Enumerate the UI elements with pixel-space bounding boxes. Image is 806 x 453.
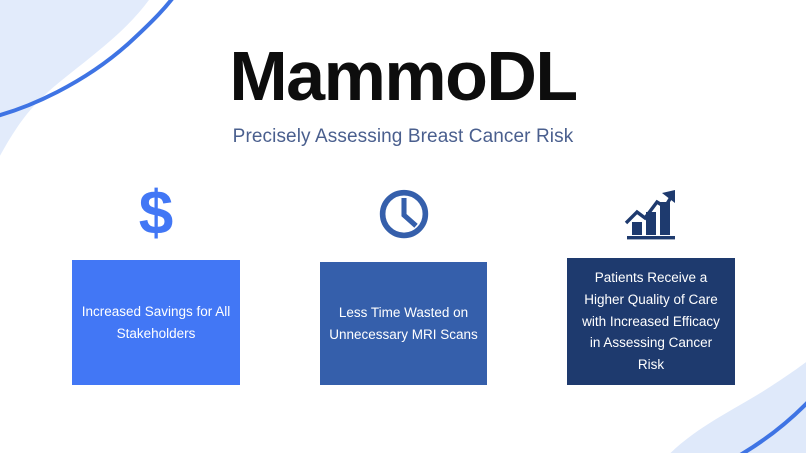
dollar-sign-icon: $	[139, 183, 173, 245]
growth-bar-chart-icon	[621, 185, 681, 243]
icon-container: $	[72, 178, 240, 250]
feature-card-text: Increased Savings for All Stakeholders	[80, 301, 232, 345]
page-subtitle: Precisely Assessing Breast Cancer Risk	[0, 126, 806, 148]
page-title: MammoDL	[0, 40, 806, 114]
feature-card-text: Patients Receive a Higher Quality of Car…	[575, 267, 727, 376]
feature-card-time[interactable]: Less Time Wasted on Unnecessary MRI Scan…	[320, 262, 487, 385]
feature-card-text: Less Time Wasted on Unnecessary MRI Scan…	[328, 302, 479, 346]
slide-canvas: MammoDL Precisely Assessing Breast Cance…	[0, 0, 806, 453]
icon-container	[567, 178, 735, 250]
clock-icon	[377, 187, 431, 241]
icon-container	[320, 178, 487, 250]
feature-card-quality[interactable]: Patients Receive a Higher Quality of Car…	[567, 258, 735, 385]
feature-card-savings[interactable]: Increased Savings for All Stakeholders	[72, 260, 240, 385]
